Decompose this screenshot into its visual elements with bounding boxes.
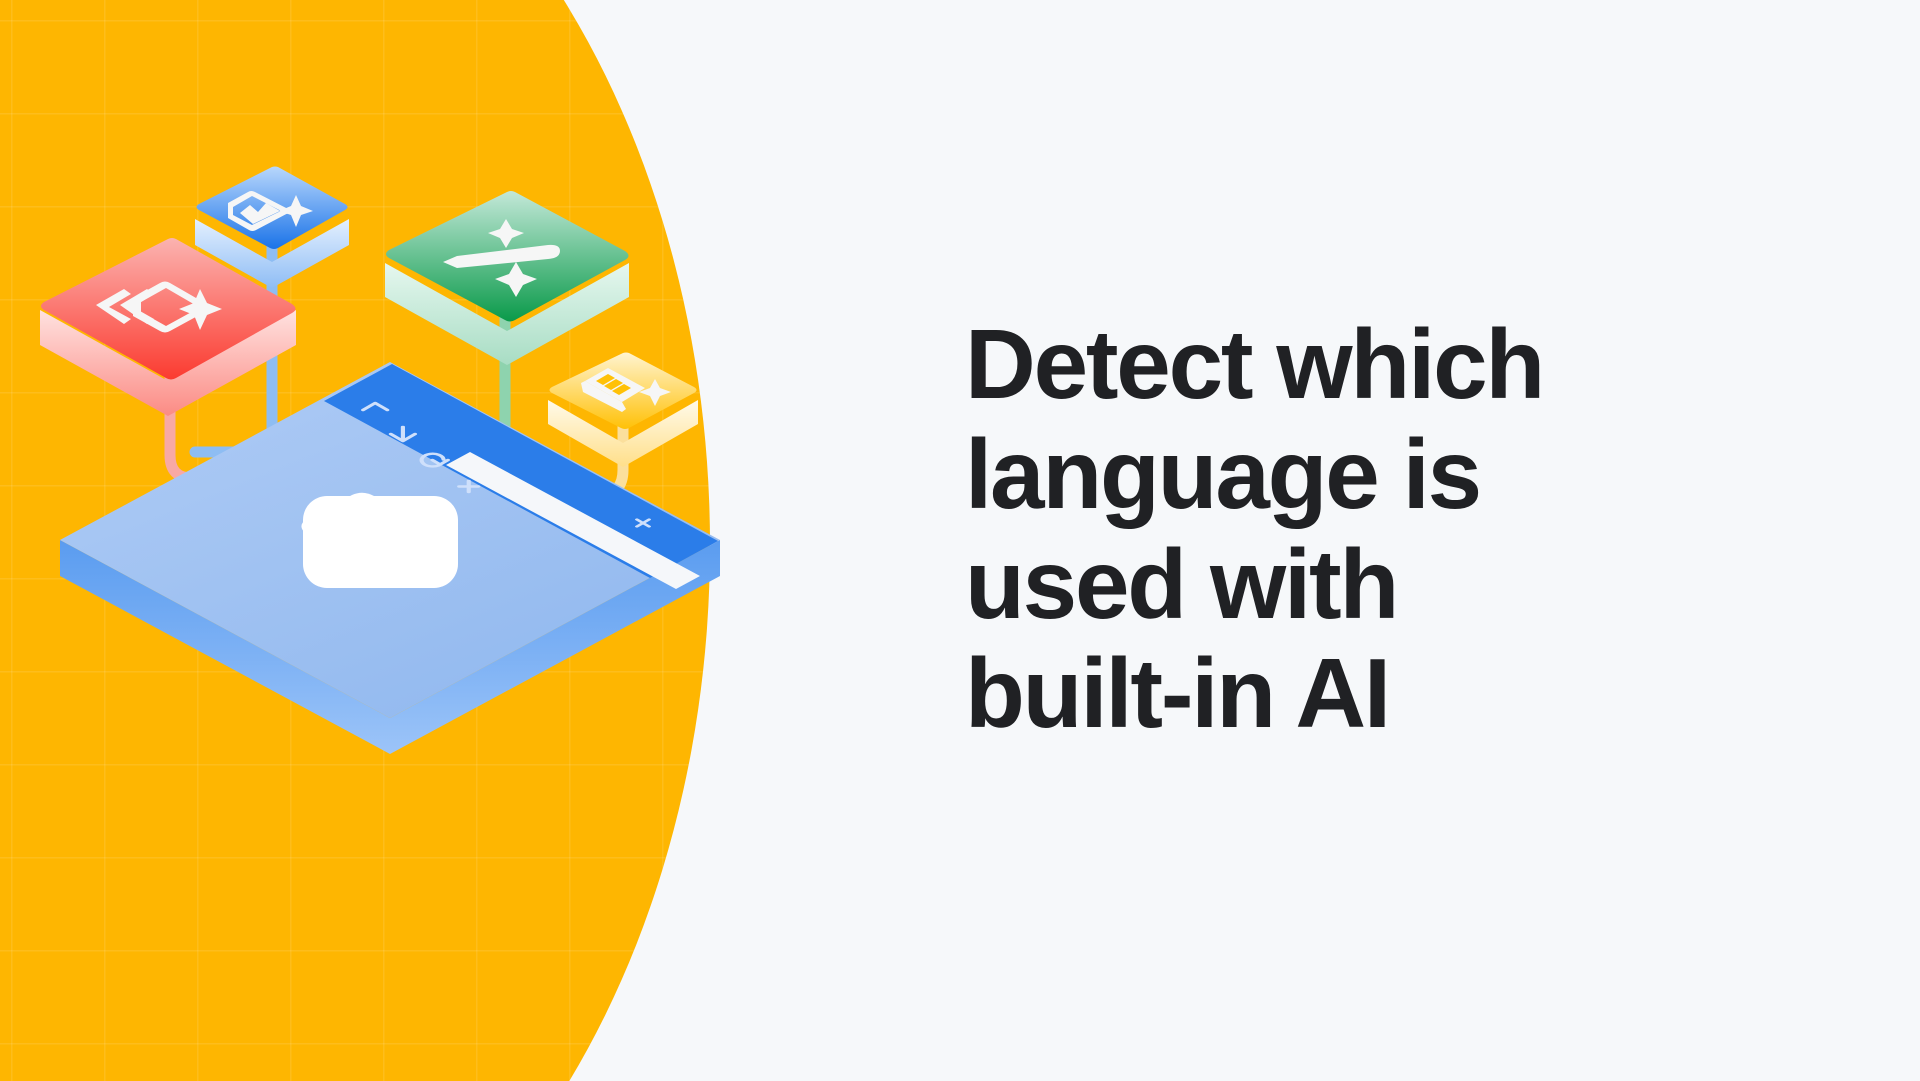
headline-line-4: built-in AI	[965, 639, 1785, 749]
page-title: Detect which language is used with built…	[965, 310, 1785, 749]
illustration	[0, 0, 760, 1081]
tile-summarizer[interactable]	[548, 353, 698, 468]
headline-line-3: used with	[965, 530, 1785, 640]
hero-banner: Detect which language is used with built…	[0, 0, 1920, 1081]
headline-line-1: Detect which	[965, 310, 1785, 420]
tile-writer[interactable]	[385, 191, 629, 365]
headline-line-2: language is	[965, 420, 1785, 530]
content-card-face[interactable]	[303, 496, 458, 588]
